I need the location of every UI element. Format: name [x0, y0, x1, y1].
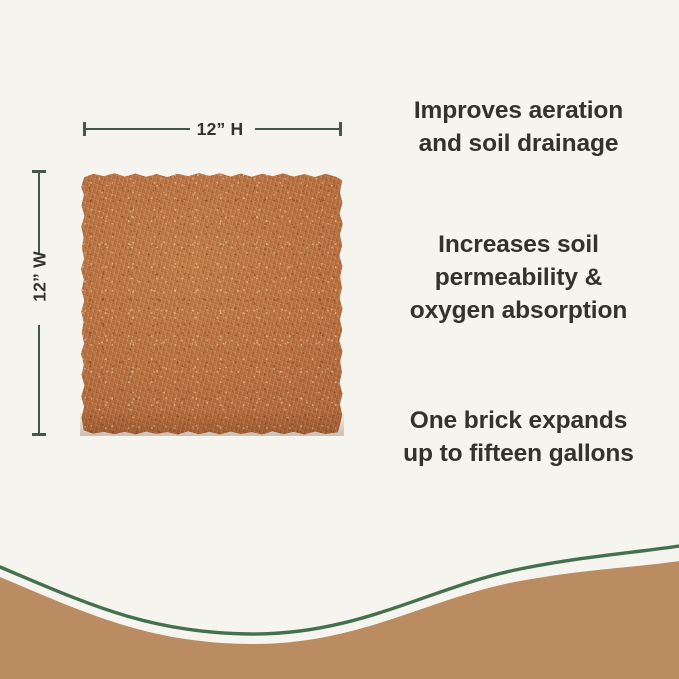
benefit-item-permeability: Increases soil permeability & oxygen abs… — [358, 228, 679, 327]
horizontal-dimension-line: 12” H — [83, 121, 342, 138]
dimension-line-segment-right — [255, 128, 339, 130]
benefit-line: oxygen absorption — [358, 294, 679, 327]
benefit-line: up to fifteen gallons — [358, 437, 679, 470]
benefit-line: and soil drainage — [358, 127, 679, 160]
benefit-line: permeability & — [358, 261, 679, 294]
wave-soil-fill — [0, 561, 679, 679]
height-dimension-label: 12” H — [187, 121, 253, 138]
benefit-line: Improves aeration — [358, 94, 679, 127]
benefit-line: One brick expands — [358, 404, 679, 437]
benefit-item-aeration: Improves aeration and soil drainage — [358, 94, 679, 160]
coco-coir-brick-image — [80, 171, 344, 436]
dimension-end-cap-right — [339, 122, 342, 136]
soil-wave-decoration — [0, 519, 679, 679]
product-infographic: 12” H 12” W Improves aeration and soil d… — [0, 0, 679, 679]
benefit-line: Increases soil — [358, 228, 679, 261]
brick-texture — [80, 171, 344, 436]
dimension-end-cap-bottom — [32, 433, 46, 436]
product-dimension-area: 12” H 12” W — [0, 0, 362, 520]
vertical-dimension-line: 12” W — [31, 170, 48, 436]
benefit-item-expansion: One brick expands up to fifteen gallons — [358, 404, 679, 470]
width-dimension-label: 12” W — [32, 244, 49, 310]
benefits-list: Improves aeration and soil drainage Incr… — [358, 0, 679, 520]
dimension-line-segment-bottom — [38, 325, 40, 433]
dimension-line-segment-left — [86, 128, 190, 130]
